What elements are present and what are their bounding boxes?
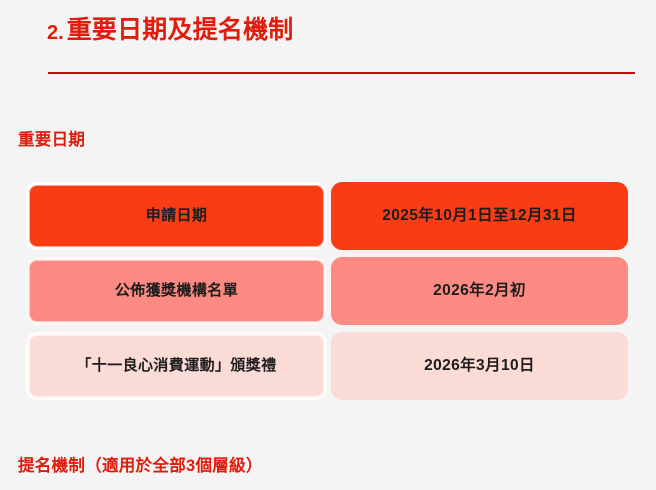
- section-heading-nomination-mechanism: 提名機制（適用於全部3個層級）: [18, 452, 263, 476]
- page-title-text: 重要日期及提名機制: [67, 16, 294, 44]
- table-cell-label: 公佈獲獎機構名單: [26, 257, 327, 325]
- slide-container: 2.重要日期及提名機制 重要日期 申請日期 2025年10月1日至12月31日 …: [0, 0, 656, 490]
- title-divider: [48, 72, 635, 74]
- table-row: 公佈獲獎機構名單 2026年2月初: [26, 257, 628, 325]
- important-dates-table: 申請日期 2025年10月1日至12月31日 公佈獲獎機構名單 2026年2月初…: [26, 182, 628, 400]
- table-cell-value: 2026年2月初: [331, 257, 628, 325]
- table-cell-value: 2026年3月10日: [331, 332, 628, 400]
- table-cell-label: 申請日期: [26, 182, 327, 250]
- table-row: 「十一良心消費運動」頒獎禮 2026年3月10日: [26, 332, 628, 400]
- table-row: 申請日期 2025年10月1日至12月31日: [26, 182, 628, 250]
- table-cell-value: 2025年10月1日至12月31日: [331, 182, 628, 250]
- page-title-number: 2.: [47, 22, 64, 44]
- page-title: 2.重要日期及提名機制: [47, 15, 294, 46]
- section-heading-important-dates: 重要日期: [18, 126, 85, 150]
- table-cell-label: 「十一良心消費運動」頒獎禮: [26, 332, 327, 400]
